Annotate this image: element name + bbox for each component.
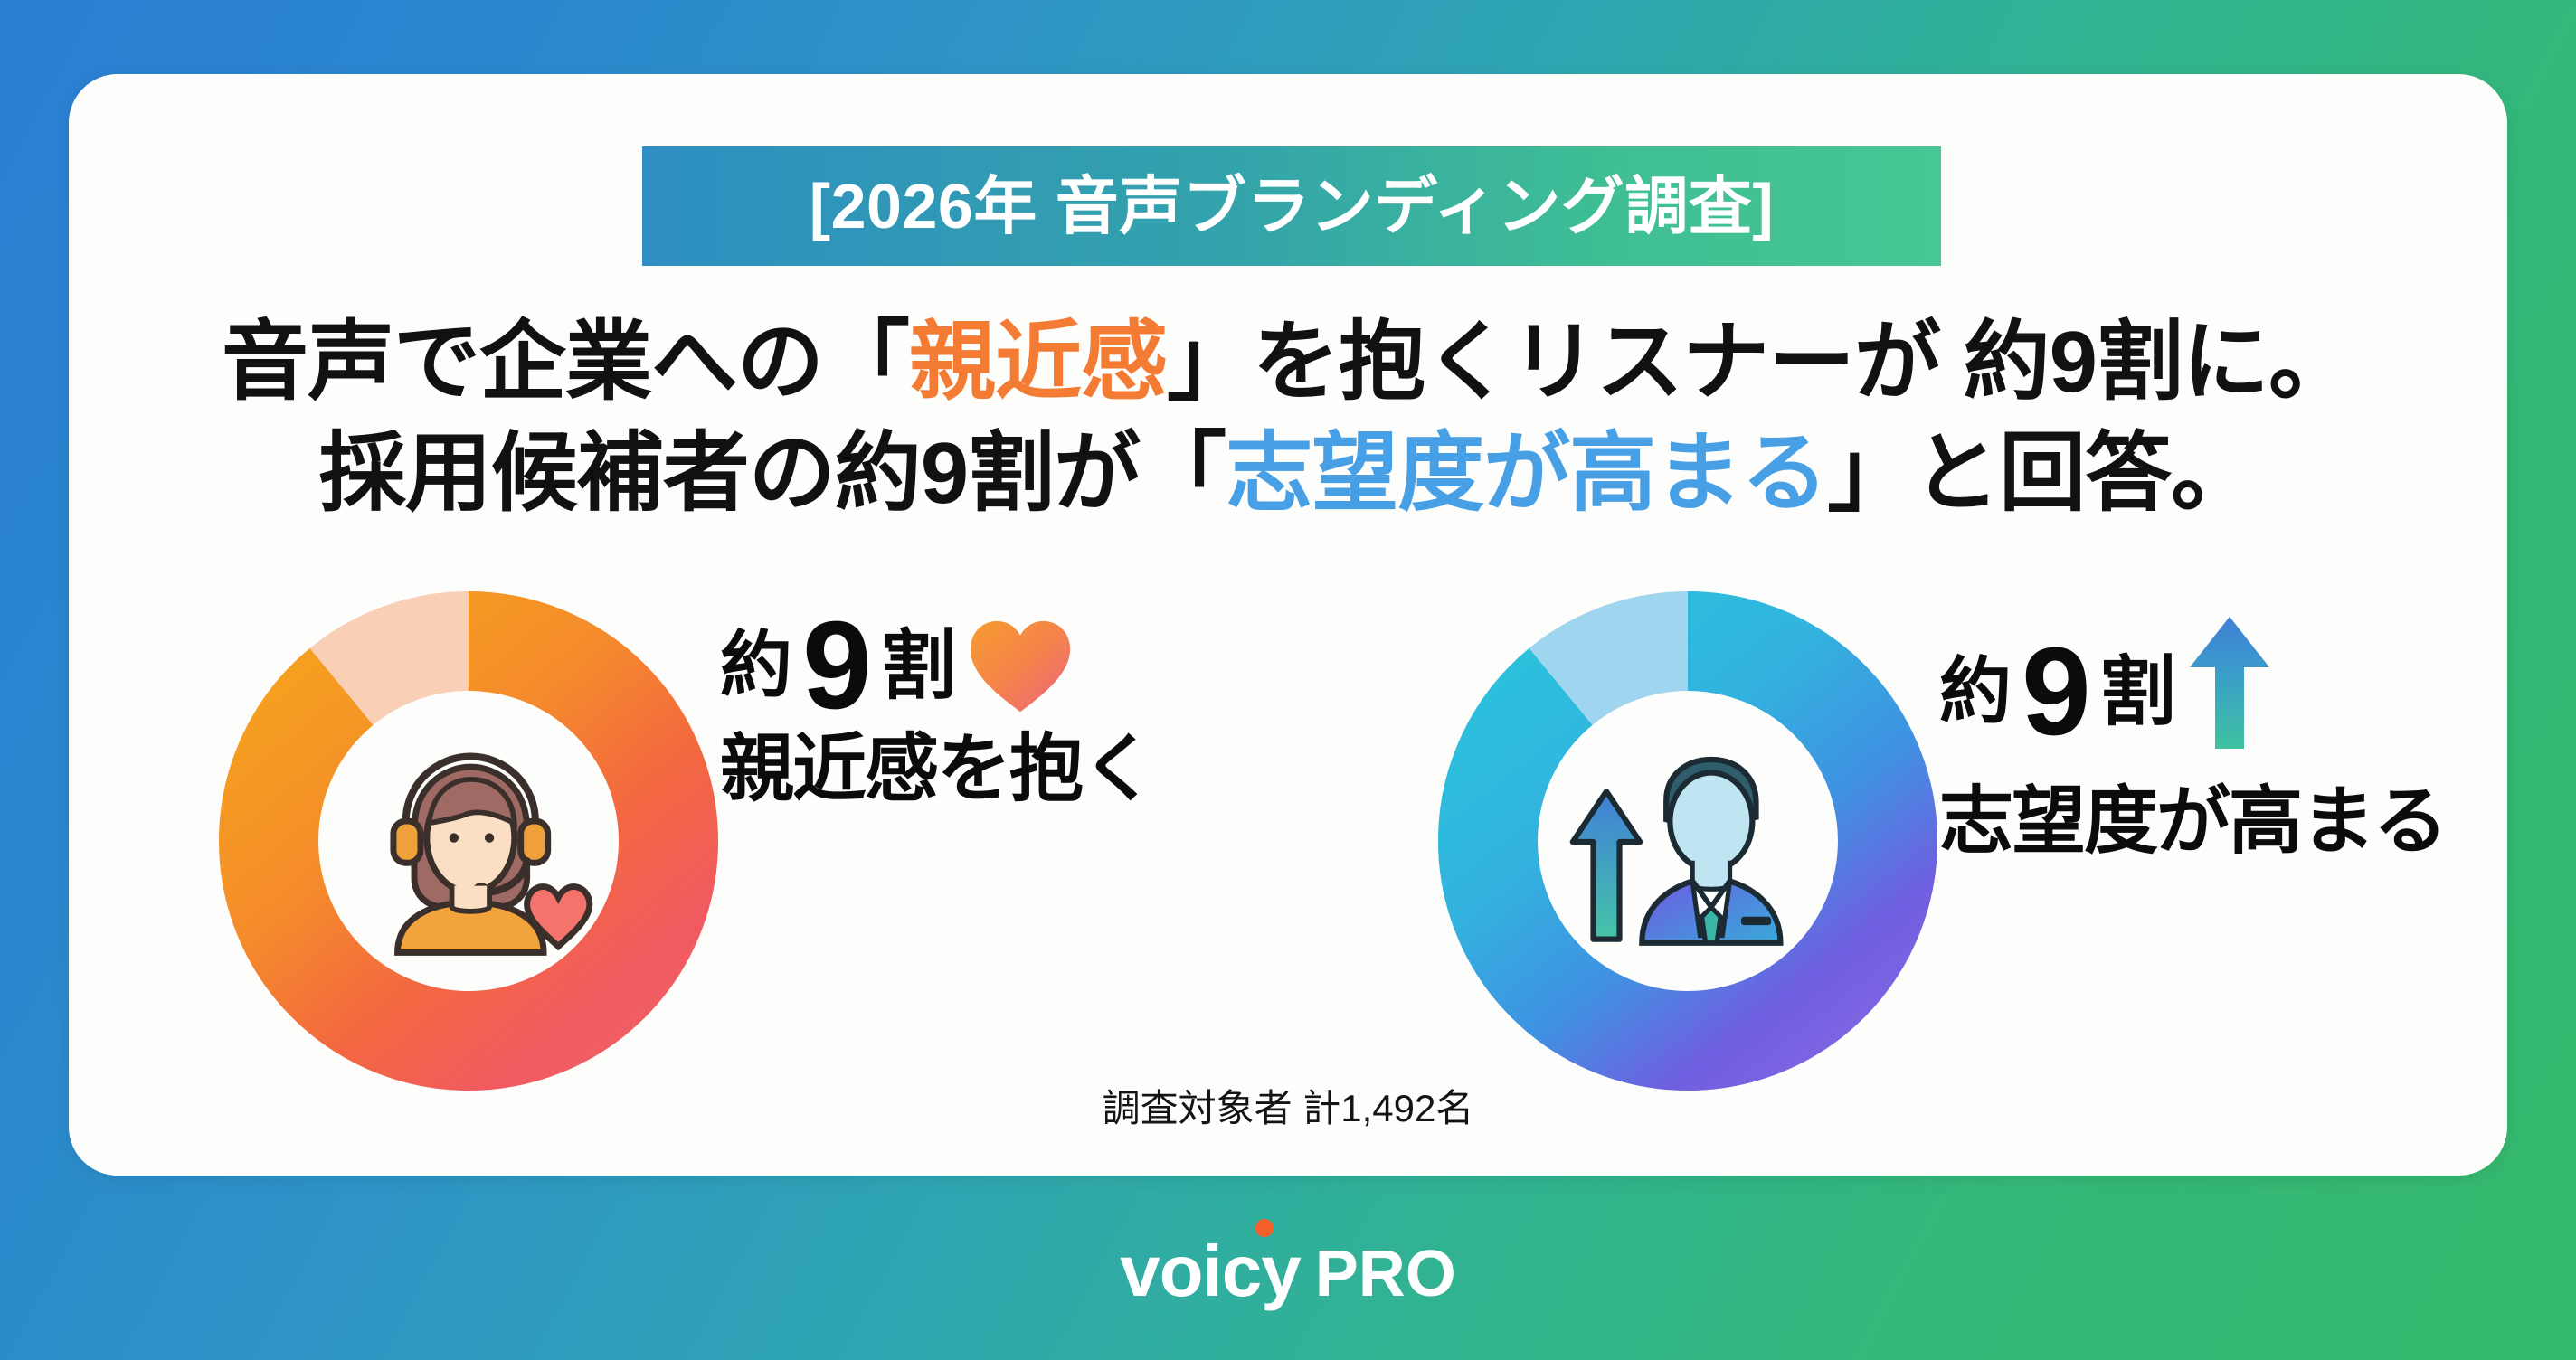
stat-caption-familiarity: 親近感を抱く [720,731,1281,808]
stat-text-familiarity: 約 9 割 [720,615,1281,808]
headline-1-highlight: 親近感 [909,314,1167,411]
headline-2-highlight: 志望度が高まる [1226,425,1827,522]
up-arrow-icon [2186,615,2273,751]
donut-chart-aspiration [1438,591,1937,1091]
stat-caption-aspiration: 志望度が高まる [1939,783,2500,861]
content-card: [2026年 音声ブランディング調査] 音声で企業への「親近感」を抱くリスナーが… [69,74,2507,1176]
stat-block-aspiration: 約 9 割 [1288,515,2507,1040]
poster-root: [2026年 音声ブランディング調査] 音声で企業への「親近感」を抱くリスナーが… [0,0,2576,1360]
voicy-pro-logo: voicy PRO [1120,1235,1456,1308]
survey-banner: [2026年 音声ブランディング調査] [642,146,1941,266]
heart-icon [967,615,1074,716]
stat-block-familiarity: 約 9 割 [69,515,1288,1040]
stats-row: 約 9 割 [69,515,2507,1058]
logo-brand: voicy [1120,1235,1301,1308]
stat-prefix-familiarity: 約 [720,629,790,702]
woman-headset-heart-icon [333,723,604,959]
headline-2-before: 採用候補者の約9割が「 [319,425,1226,522]
logo-strip: voicy PRO [0,1212,2576,1360]
banner-label: [2026年 音声ブランディング調査] [810,175,1774,238]
stat-unit-aspiration: 割 [2100,654,2173,730]
headline-line-1: 音声で企業への「親近感」を抱くリスナーが 約9割に。 [69,307,2507,419]
businessman-arrow-icon [1552,723,1823,959]
stat-text-aspiration: 約 9 割 [1939,615,2500,861]
donut-chart-familiarity [219,591,718,1091]
stat-number-aspiration: 9 [2022,642,2088,741]
logo-suffix: PRO [1315,1242,1456,1307]
headline-block: 音声で企業への「親近感」を抱くリスナーが 約9割に。 採用候補者の約9割が「志望… [69,307,2507,530]
inner-up-arrow-icon [1573,791,1640,939]
stat-value-row-aspiration: 約 9 割 [1939,615,2500,769]
stat-number-familiarity: 9 [802,616,868,715]
headline-2-after: 」と回答。 [1827,425,2257,522]
stat-unit-familiarity: 割 [881,628,954,704]
headline-line-2: 採用候補者の約9割が「志望度が高まる」と回答。 [69,419,2507,530]
stat-value-row-familiarity: 約 9 割 [720,615,1281,716]
survey-footnote: 調査対象者 計1,492名 [69,1078,2507,1133]
headline-1-before: 音声で企業への「 [222,314,909,411]
stat-prefix-aspiration: 約 [1939,656,2009,728]
headline-1-after: 」を抱くリスナーが 約9割に。 [1167,314,2354,411]
